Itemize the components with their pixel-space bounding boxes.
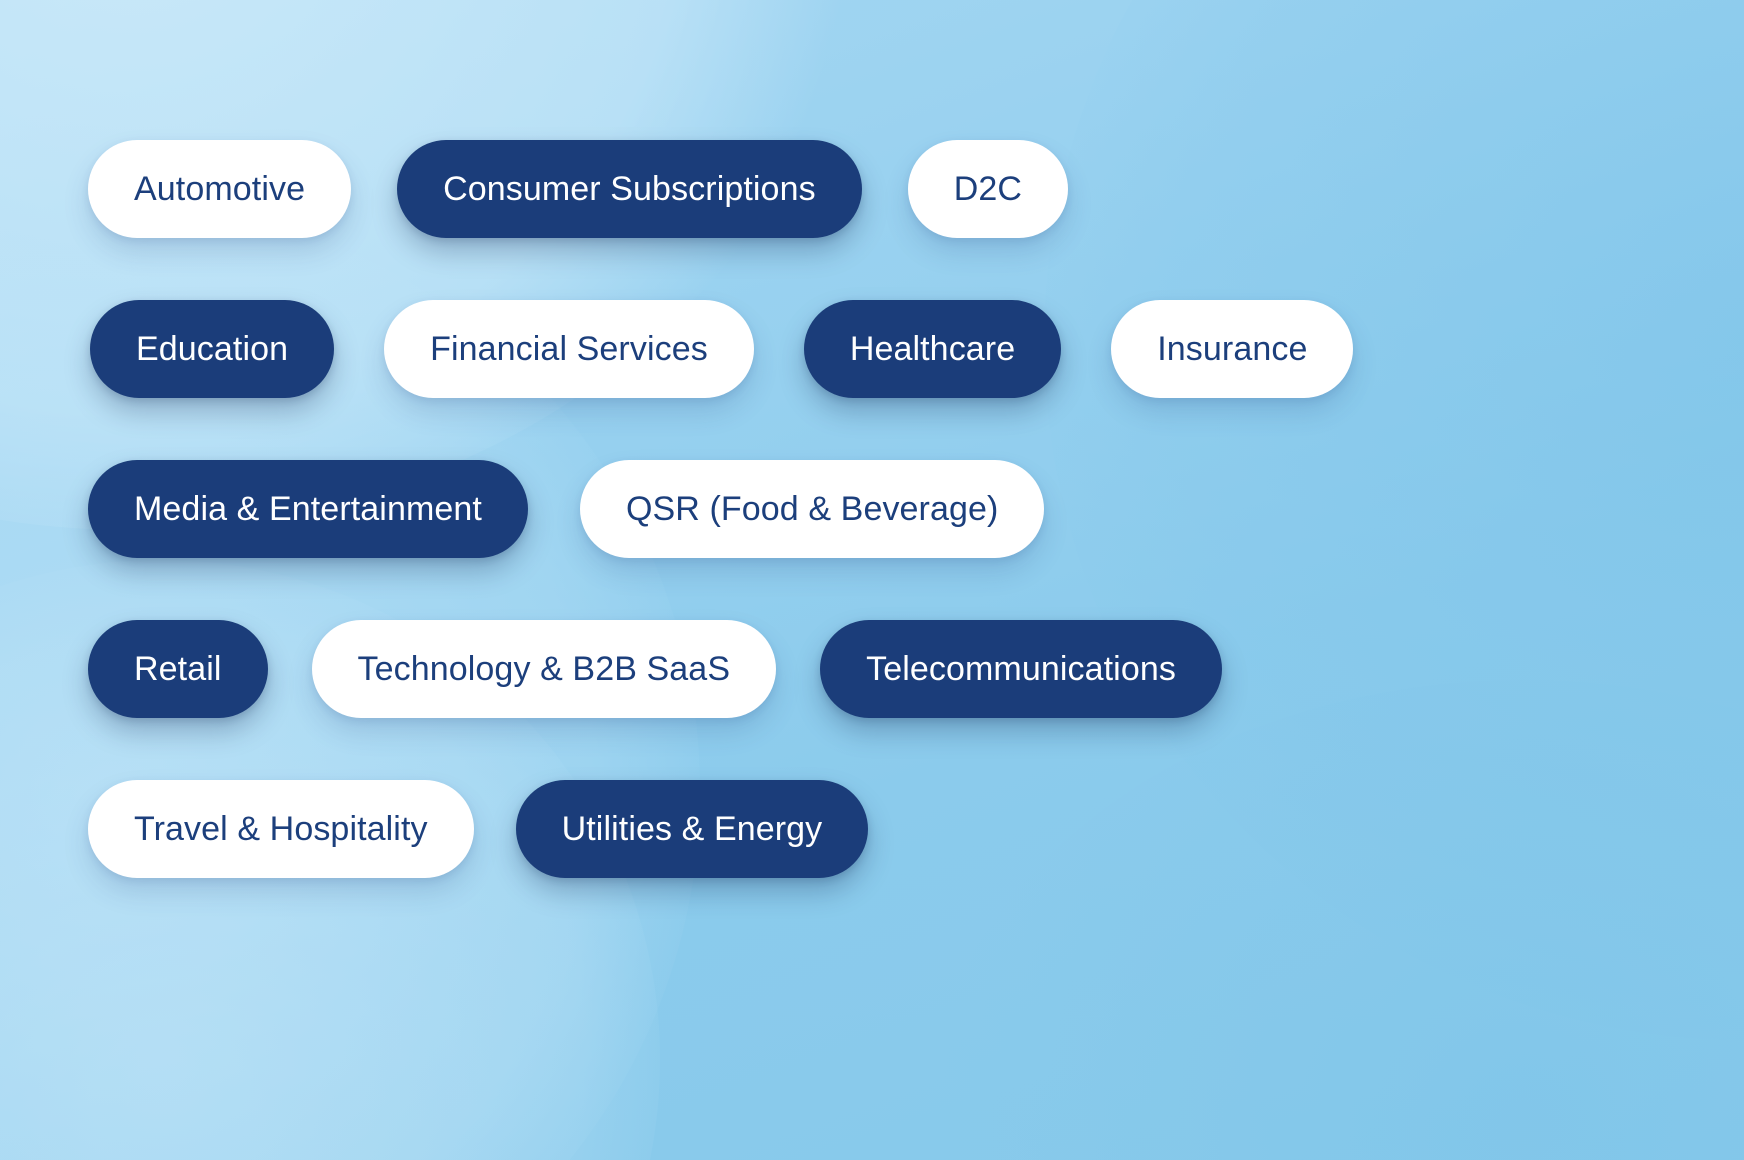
industry-tag-media-and-entertainment[interactable]: Media & Entertainment: [88, 460, 528, 558]
industry-tag-qsr-food-and-beverage[interactable]: QSR (Food & Beverage): [580, 460, 1044, 558]
tag-row-2: EducationFinancial ServicesHealthcareIns…: [80, 300, 1664, 398]
industry-tag-consumer-subscriptions[interactable]: Consumer Subscriptions: [397, 140, 862, 238]
industry-tag-financial-services[interactable]: Financial Services: [384, 300, 754, 398]
industry-tag-insurance[interactable]: Insurance: [1111, 300, 1353, 398]
tag-row-1: AutomotiveConsumer SubscriptionsD2C: [80, 140, 1664, 238]
tag-row-4: RetailTechnology & B2B SaaSTelecommunica…: [80, 620, 1664, 718]
industry-tag-utilities-and-energy[interactable]: Utilities & Energy: [516, 780, 869, 878]
industry-tag-education[interactable]: Education: [90, 300, 334, 398]
industry-tag-telecommunications[interactable]: Telecommunications: [820, 620, 1222, 718]
industry-tag-healthcare[interactable]: Healthcare: [804, 300, 1061, 398]
industry-tag-travel-and-hospitality[interactable]: Travel & Hospitality: [88, 780, 474, 878]
tag-row-5: Travel & HospitalityUtilities & Energy: [80, 780, 1664, 878]
industry-tag-automotive[interactable]: Automotive: [88, 140, 351, 238]
industry-tag-d2c[interactable]: D2C: [908, 140, 1068, 238]
tag-row-3: Media & EntertainmentQSR (Food & Beverag…: [80, 460, 1664, 558]
industry-tag-technology-and-b2b-saas[interactable]: Technology & B2B SaaS: [312, 620, 777, 718]
industry-tag-retail[interactable]: Retail: [88, 620, 268, 718]
industry-tag-cloud: AutomotiveConsumer SubscriptionsD2CEduca…: [0, 0, 1744, 1160]
